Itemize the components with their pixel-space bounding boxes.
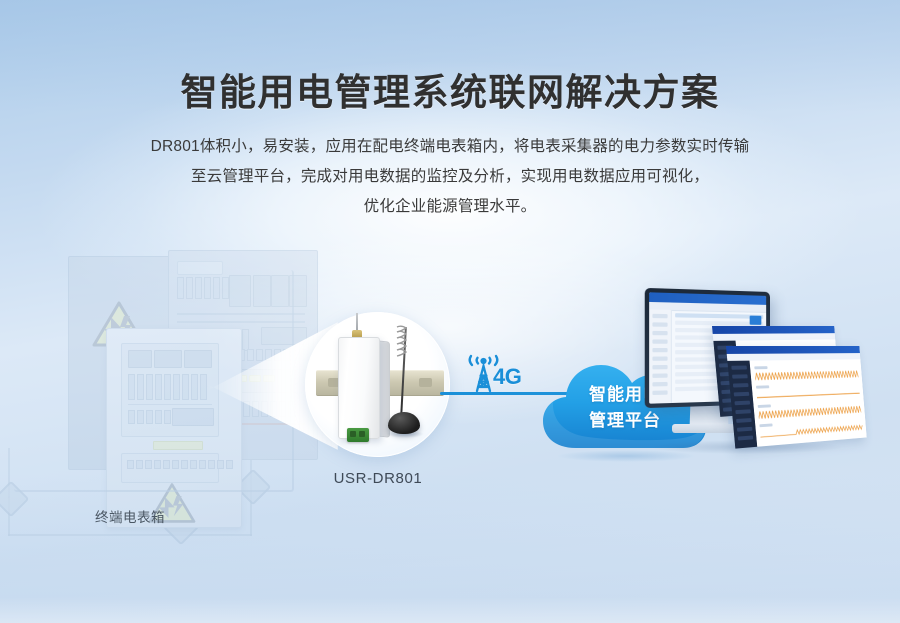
cellular-link-group: 4G — [462, 352, 548, 394]
waveform-chart — [760, 421, 863, 441]
cabinet-wire — [8, 534, 252, 536]
cabinet-caption: 终端电表箱 — [10, 506, 250, 526]
series-label — [756, 385, 769, 388]
device-terminal-block — [347, 428, 369, 442]
link-label: 4G — [493, 364, 521, 390]
waveform-chart — [756, 386, 860, 402]
platform-screens-group — [630, 288, 900, 473]
hero-text-block: 智能用电管理系统联网解决方案 DR801体积小，易安装，应用在配电终端电表箱内，… — [0, 0, 900, 222]
antenna-magnetic-base — [388, 412, 420, 434]
description-line-3: 优化企业能源管理水平。 — [120, 192, 780, 222]
dashboard-sidebar — [649, 309, 672, 403]
dashboard-action-button — [750, 316, 762, 325]
hero-description: DR801体积小，易安装，应用在配电终端电表箱内，将电表采集器的电力参数实时传输… — [120, 132, 780, 222]
floating-window-front — [726, 346, 867, 449]
description-line-1: DR801体积小，易安装，应用在配电终端电表箱内，将电表采集器的电力参数实时传输 — [120, 132, 780, 162]
series-label — [754, 366, 767, 369]
antenna-coil — [396, 325, 407, 357]
waveform-chart — [755, 368, 859, 383]
usr-dr801-device — [338, 337, 380, 439]
poster-canvas: 智能用电管理系统联网解决方案 DR801体积小，易安装，应用在配电终端电表箱内，… — [0, 0, 900, 623]
description-line-2: 至云管理平台，完成对用电数据的监控及分析，实现用电数据应用可视化， — [120, 162, 780, 192]
window-content — [750, 359, 867, 447]
waveform-chart — [758, 403, 861, 421]
page-title: 智能用电管理系统联网解决方案 — [0, 0, 900, 116]
bottom-reflection — [0, 597, 900, 623]
product-caption: USR-DR801 — [296, 470, 460, 487]
